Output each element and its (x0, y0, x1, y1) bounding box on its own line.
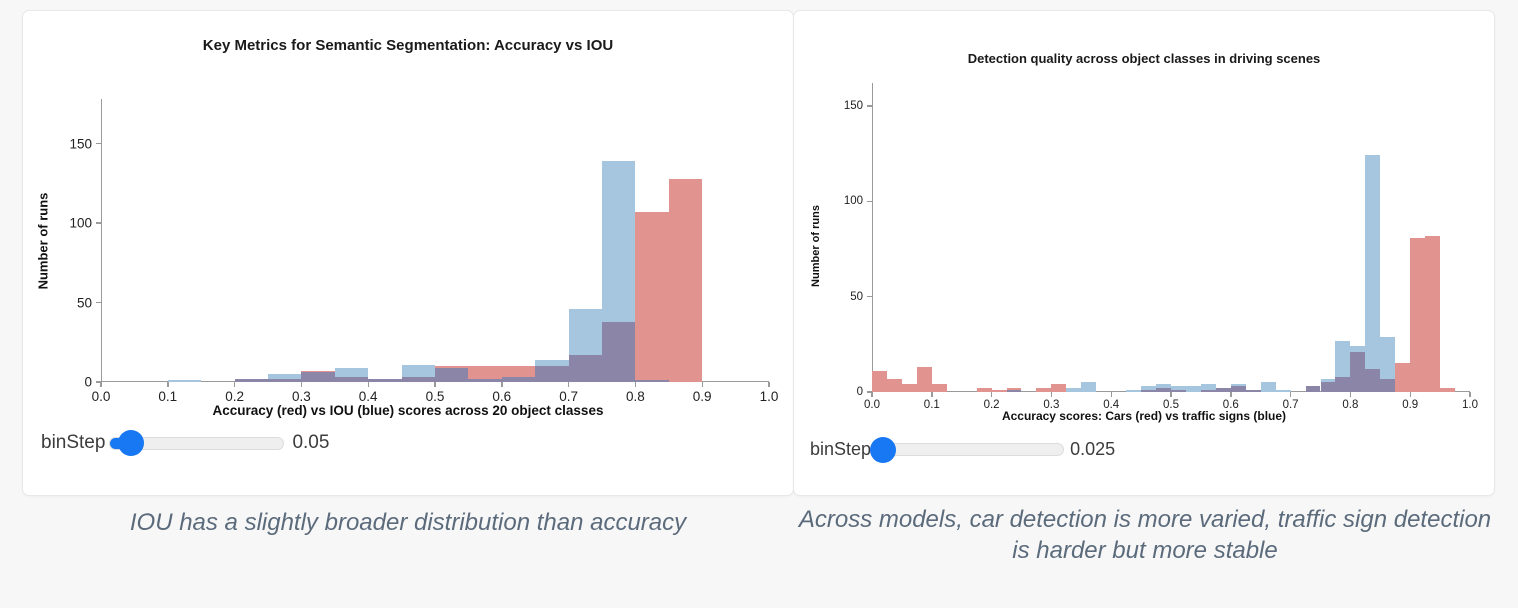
x-tick-mark (167, 382, 168, 387)
binstep-slider-row-left[interactable]: binStep 0.05 (41, 432, 329, 454)
x-tick-label: 0.3 (292, 389, 311, 404)
plot-area-right: 0501001500.00.10.20.30.40.50.60.70.80.91… (872, 83, 1470, 392)
histogram-bar-overlap (1007, 390, 1022, 392)
histogram-bar-overlap (535, 366, 568, 382)
x-tick-mark (931, 392, 932, 397)
binstep-slider-label-right: binStep (810, 439, 871, 460)
binstep-slider-value-left: 0.05 (292, 432, 329, 454)
histogram-bar (932, 384, 947, 392)
x-tick-mark (1111, 392, 1112, 397)
histogram-bar-overlap (1216, 388, 1231, 392)
histogram-chart-right: Detection quality across object classes … (794, 11, 1494, 495)
histogram-bar-overlap (435, 368, 468, 382)
histogram-bar (1395, 363, 1410, 392)
histogram-bar (1186, 386, 1201, 392)
y-axis-label-left: Number of runs (36, 193, 51, 290)
x-tick-mark (768, 382, 769, 387)
histogram-bar (1051, 384, 1066, 392)
histogram-bar-overlap (1156, 388, 1171, 392)
x-tick-mark (1469, 392, 1470, 397)
y-tick-mark (867, 105, 872, 106)
panel-cell-right: Detection quality across object classes … (793, 0, 1518, 608)
binstep-slider-label-left: binStep (41, 432, 105, 454)
x-tick-label: 0.8 (626, 389, 645, 404)
histogram-bar-overlap (1321, 382, 1336, 392)
panel-cell-left: Key Metrics for Semantic Segmentation: A… (12, 0, 759, 608)
histogram-bar (1425, 236, 1440, 392)
y-tick-label: 0 (857, 386, 863, 398)
y-axis-spine-right (872, 83, 873, 392)
histogram-bar-overlap (368, 379, 401, 382)
histogram-bar (1440, 388, 1455, 392)
histogram-bar (669, 179, 702, 383)
x-axis-label-right: Accuracy scores: Cars (red) vs traffic s… (794, 409, 1494, 423)
histogram-bar (977, 388, 992, 392)
chart-panel-right: Detection quality across object classes … (793, 10, 1495, 496)
x-tick-mark (1290, 392, 1291, 397)
y-tick-label: 50 (77, 295, 92, 310)
x-tick-mark (1350, 392, 1351, 397)
histogram-bar-overlap (602, 322, 635, 382)
y-tick-mark (867, 201, 872, 202)
chart-title-right: Detection quality across object classes … (794, 51, 1494, 66)
histogram-bar (635, 212, 668, 382)
histogram-bar-overlap (1201, 390, 1216, 392)
histogram-bar-overlap (268, 379, 301, 382)
x-tick-mark (1410, 392, 1411, 397)
y-tick-label: 100 (69, 216, 92, 231)
x-tick-mark (301, 382, 302, 387)
histogram-bar (902, 384, 917, 392)
histogram-bar (1365, 155, 1380, 392)
x-tick-mark (434, 382, 435, 387)
binstep-slider-row-right[interactable]: binStep 0.025 (810, 439, 1115, 460)
x-tick-mark (702, 382, 703, 387)
histogram-bar (1410, 238, 1425, 393)
histogram-bar-overlap (335, 377, 368, 382)
x-tick-label: 1.0 (760, 389, 779, 404)
histogram-bar-overlap (235, 379, 268, 382)
histogram-bar-overlap (1171, 390, 1186, 392)
x-tick-mark (501, 382, 502, 387)
x-tick-mark (1051, 392, 1052, 397)
y-tick-mark (96, 222, 101, 223)
histogram-bar-overlap (635, 380, 668, 382)
histogram-bar-overlap (1335, 377, 1350, 392)
histogram-bar (1066, 388, 1081, 392)
x-tick-label: 0.0 (92, 389, 111, 404)
binstep-slider-track-left[interactable] (109, 437, 284, 450)
plot-area-left: 0501001500.00.10.20.30.40.50.60.70.80.91… (101, 99, 769, 382)
x-tick-mark (991, 392, 992, 397)
histogram-bar-overlap (502, 377, 535, 382)
x-tick-mark (871, 392, 872, 397)
histogram-bar-overlap (1350, 352, 1365, 392)
histogram-bar-overlap (468, 379, 501, 382)
y-axis-label-right: Number of runs (810, 205, 822, 287)
histogram-bar-overlap (569, 355, 602, 382)
x-tick-mark (635, 382, 636, 387)
y-tick-label: 100 (844, 195, 863, 207)
y-tick-mark (867, 296, 872, 297)
x-axis-label-left: Accuracy (red) vs IOU (blue) scores acro… (23, 403, 793, 418)
histogram-bar (1276, 390, 1291, 392)
binstep-slider-thumb-right[interactable] (870, 437, 896, 463)
binstep-slider-thumb-left[interactable] (118, 430, 144, 456)
histogram-bar-overlap (402, 377, 435, 382)
x-tick-mark (100, 382, 101, 387)
histogram-bar (1261, 382, 1276, 392)
y-tick-label: 0 (84, 375, 92, 390)
histogram-chart-left: Key Metrics for Semantic Segmentation: A… (23, 11, 793, 495)
histogram-bar (1126, 390, 1141, 392)
histogram-bar (1036, 388, 1051, 392)
y-tick-mark (96, 302, 101, 303)
histogram-bar-overlap (1246, 390, 1261, 392)
y-tick-label: 50 (850, 291, 863, 303)
histogram-bar (887, 379, 902, 392)
chart-panel-left: Key Metrics for Semantic Segmentation: A… (22, 10, 794, 496)
histogram-bar-overlap (301, 372, 334, 382)
x-tick-label: 0.1 (158, 389, 177, 404)
histogram-bar-overlap (1380, 379, 1395, 392)
x-tick-label: 0.2 (225, 389, 244, 404)
y-tick-label: 150 (844, 100, 863, 112)
x-tick-label: 0.6 (492, 389, 511, 404)
histogram-bar (917, 367, 932, 392)
x-tick-label: 0.5 (426, 389, 445, 404)
histogram-bar-overlap (1231, 386, 1246, 392)
x-tick-mark (368, 382, 369, 387)
x-tick-label: 0.9 (693, 389, 712, 404)
x-tick-mark (568, 382, 569, 387)
binstep-slider-track-right[interactable] (874, 443, 1064, 456)
histogram-bar (1081, 382, 1096, 392)
figure-caption-right: Across models, car detection is more var… (793, 505, 1497, 566)
histogram-bar-overlap (1365, 369, 1380, 392)
chart-title-left: Key Metrics for Semantic Segmentation: A… (23, 37, 793, 54)
x-tick-mark (1230, 392, 1231, 397)
x-tick-label: 0.7 (559, 389, 578, 404)
x-tick-mark (234, 382, 235, 387)
histogram-bar-overlap (1306, 386, 1321, 392)
dashboard: Key Metrics for Semantic Segmentation: A… (0, 0, 1518, 608)
histogram-bar-overlap (1141, 390, 1156, 392)
figure-caption-left: IOU has a slightly broader distribution … (20, 508, 796, 539)
y-tick-label: 150 (69, 136, 92, 151)
x-tick-mark (1170, 392, 1171, 397)
binstep-slider-value-right: 0.025 (1070, 439, 1115, 460)
y-axis-spine-left (101, 99, 102, 382)
y-tick-mark (96, 143, 101, 144)
x-tick-label: 0.4 (359, 389, 378, 404)
histogram-bar (872, 371, 887, 392)
histogram-bar (168, 380, 201, 382)
histogram-bar (992, 390, 1007, 392)
